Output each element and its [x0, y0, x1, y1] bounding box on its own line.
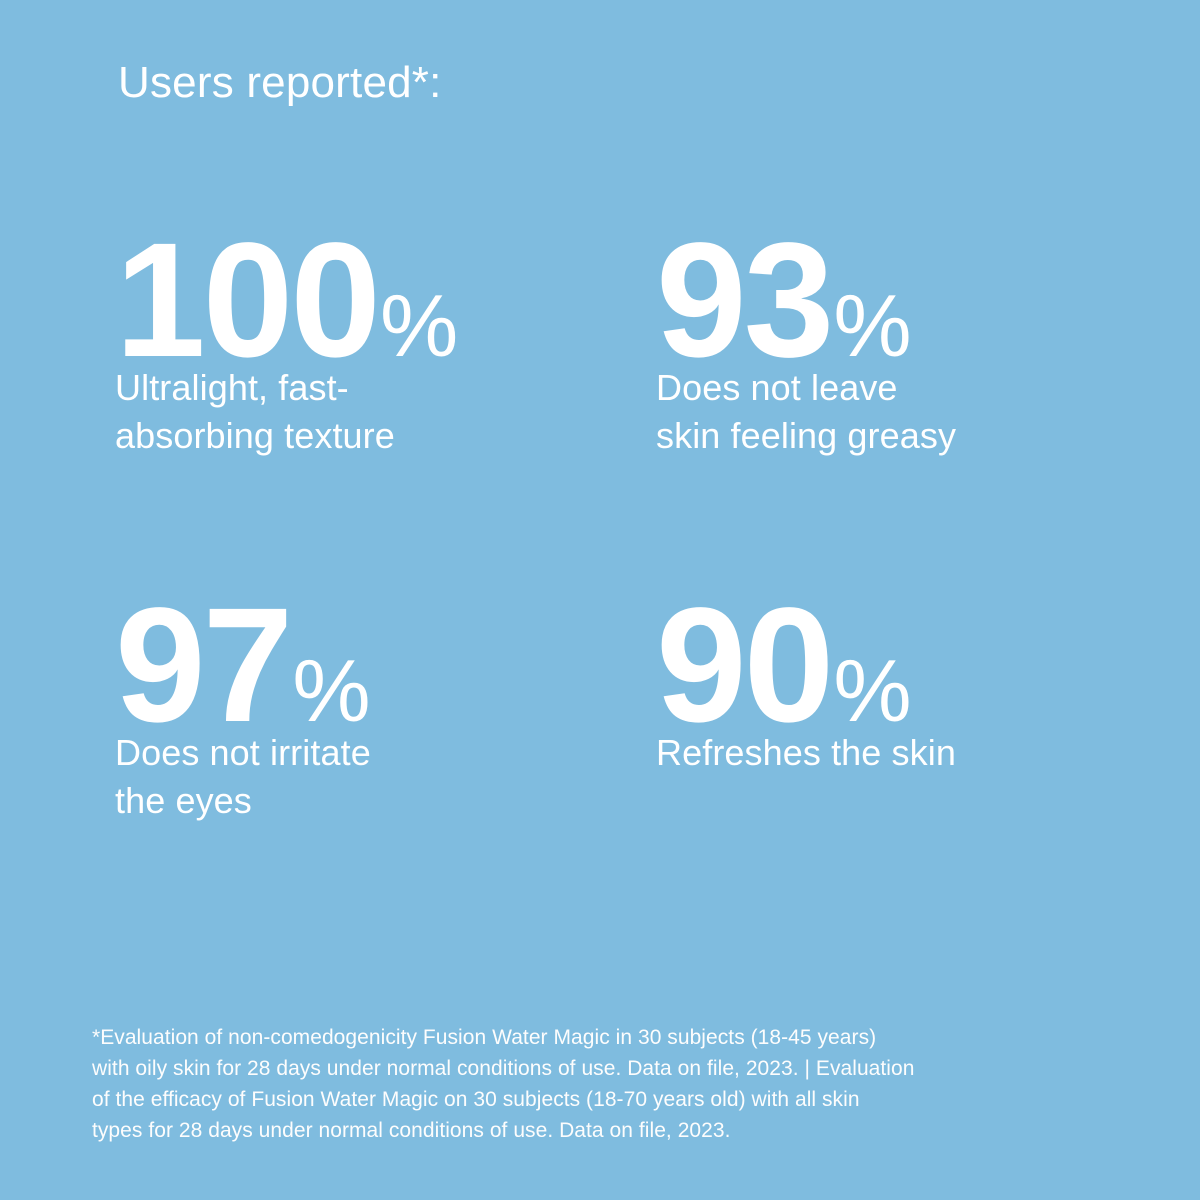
- footnote-disclaimer: *Evaluation of non-comedogenicity Fusion…: [92, 1022, 1152, 1146]
- stat-value-not-greasy: 93 %: [656, 218, 1080, 350]
- page-title: Users reported*:: [118, 58, 442, 109]
- stats-row-1: 100 % Ultralight, fast- absorbing textur…: [0, 218, 1200, 583]
- stat-number: 90: [656, 583, 831, 746]
- stat-caption: Does not leave skin feeling greasy: [656, 364, 1080, 460]
- stat-caption: Refreshes the skin: [656, 729, 1080, 777]
- claims-infographic: Users reported*: 100 % Ultralight, fast-…: [0, 0, 1200, 1200]
- stats-grid: 100 % Ultralight, fast- absorbing textur…: [0, 218, 1200, 948]
- stat-value-refreshes: 90 %: [656, 583, 1080, 715]
- stats-row-2: 97 % Does not irritate the eyes 90 % Ref…: [0, 583, 1200, 948]
- stat-block-not-greasy: 93 % Does not leave skin feeling greasy: [0, 218, 1080, 460]
- stat-number: 93: [656, 218, 831, 381]
- percent-symbol: %: [833, 647, 910, 735]
- percent-symbol: %: [833, 282, 910, 370]
- stat-block-refreshes: 90 % Refreshes the skin: [0, 583, 1080, 777]
